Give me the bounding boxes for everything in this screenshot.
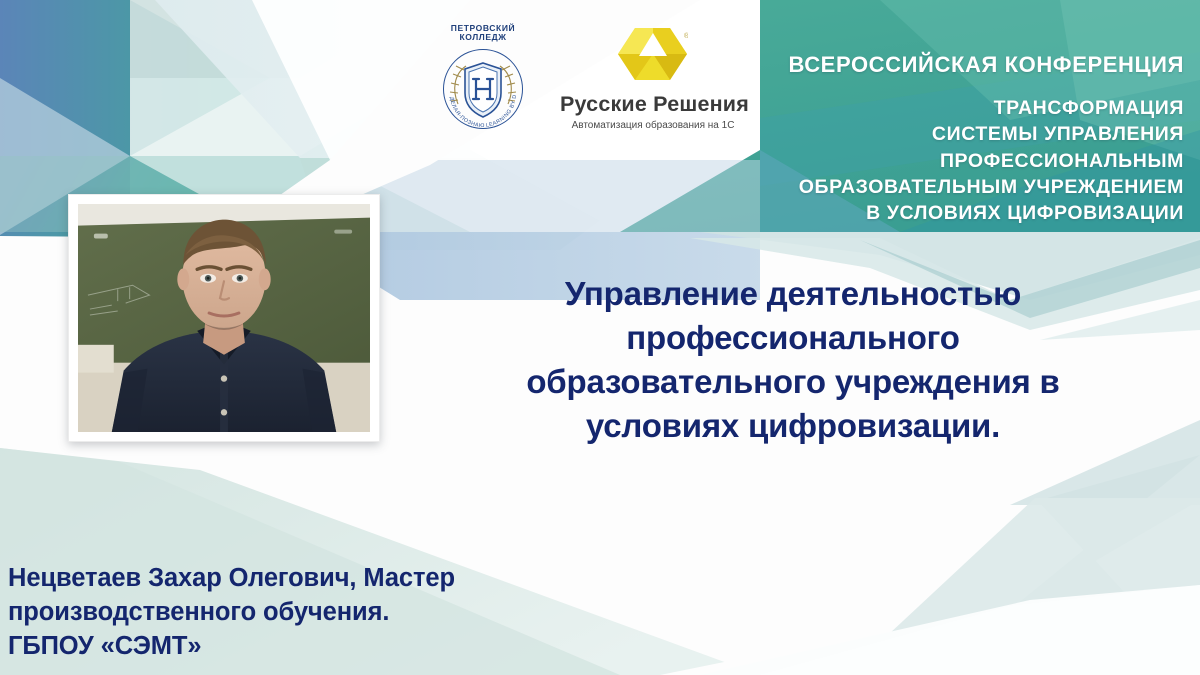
speaker-portrait-frame — [68, 194, 380, 442]
hexagon-triangle-icon: ® — [618, 24, 688, 84]
conference-line-3: ПРОФЕССИОНАЛЬНЫМ — [684, 148, 1184, 174]
petrovsky-college-emblem: ПЕТРОВСКИЙ КОЛЛЕДЖ — [428, 22, 538, 132]
speaker-portrait — [78, 204, 370, 432]
conference-headline: ВСЕРОССИЙСКАЯ КОНФЕРЕНЦИЯ — [684, 52, 1184, 77]
speaker-credit: Нецветаев Захар Олегович, Мастер произво… — [8, 561, 708, 663]
shield-icon: ДЕЛАЯ-ПОЗНАЮ LEARNING BY DOING — [442, 48, 524, 130]
conference-line-4: ОБРАЗОВАТЕЛЬНЫМ УЧРЕЖДЕНИЕМ — [684, 174, 1184, 200]
speaker-line-1: Нецветаев Захар Олегович, Мастер — [8, 561, 708, 595]
conference-block: ВСЕРОССИЙСКАЯ КОНФЕРЕНЦИЯ ТРАНСФОРМАЦИЯ … — [684, 52, 1184, 226]
college-shield-wreath: ДЕЛАЯ-ПОЗНАЮ LEARNING BY DOING — [442, 48, 524, 130]
title-line-1: Управление деятельностью — [440, 272, 1146, 316]
college-name: ПЕТРОВСКИЙ КОЛЛЕДЖ — [428, 24, 538, 42]
conference-line-1: ТРАНСФОРМАЦИЯ — [684, 95, 1184, 121]
title-line-2: профессионального — [440, 316, 1146, 360]
portrait-image — [78, 204, 370, 432]
college-name-line2: КОЛЛЕДЖ — [428, 33, 538, 42]
conference-line-2: СИСТЕМЫ УПРАВЛЕНИЯ — [684, 121, 1184, 147]
speaker-line-2: производственного обучения. — [8, 595, 708, 629]
presentation-slide: ПЕТРОВСКИЙ КОЛЛЕДЖ — [0, 0, 1200, 675]
conference-line-5: В УСЛОВИЯХ ЦИФРОВИЗАЦИИ — [684, 200, 1184, 226]
vendor-mark-icon: ® — [618, 24, 688, 84]
speaker-line-3: ГБПОУ «СЭМТ» — [8, 629, 708, 663]
registered-mark: ® — [684, 32, 688, 40]
title-line-4: условиях цифровизации. — [440, 404, 1146, 448]
title-line-3: образовательного учреждения в — [440, 360, 1146, 404]
page-title: Управление деятельностью профессионально… — [440, 272, 1146, 448]
